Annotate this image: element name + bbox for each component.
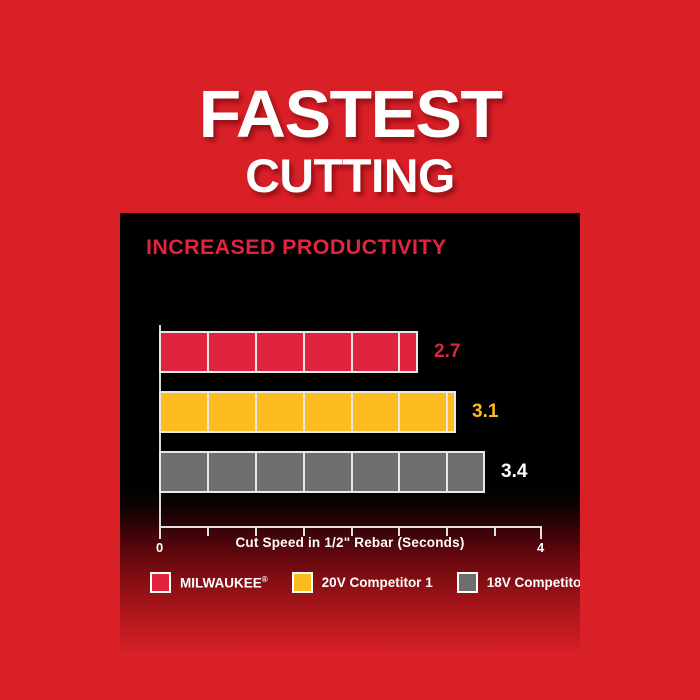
headline-primary: FASTEST: [0, 84, 700, 146]
bar-segment: [400, 393, 448, 431]
x-axis-line: 0 4: [159, 526, 542, 528]
bar-segment: [353, 453, 401, 491]
bar-segment: [448, 393, 454, 431]
legend-label: 20V Competitor 1: [322, 575, 433, 590]
bar-segment: [209, 333, 257, 371]
bar-segment: [161, 393, 209, 431]
bar-segment: [400, 333, 416, 371]
bar-segment: [400, 453, 448, 491]
bar-row: 3.4: [159, 451, 555, 493]
legend-item-1: MILWAUKEE®: [150, 572, 268, 593]
bar-value-label: 3.4: [501, 461, 527, 483]
bar-segment: [353, 333, 401, 371]
legend-label: 18V Competitor 2: [487, 575, 580, 590]
legend-swatch: [292, 572, 313, 593]
legend-swatch: [150, 572, 171, 593]
bar-segment: [161, 453, 209, 491]
bar-segment: [353, 393, 401, 431]
bar-value-label: 3.1: [472, 401, 498, 423]
bar-1: [159, 331, 418, 373]
bar-segment: [305, 453, 353, 491]
promo-graphic: FASTEST CUTTING INCREASED PRODUCTIVITY 2…: [0, 0, 700, 700]
headline-block: FASTEST CUTTING: [0, 84, 700, 200]
headline-secondary: CUTTING: [0, 152, 700, 200]
legend-item-3: 18V Competitor 2: [457, 572, 580, 593]
bar-segment: [257, 453, 305, 491]
legend-label: MILWAUKEE®: [180, 575, 268, 591]
bar-segment: [161, 333, 209, 371]
legend-swatch: [457, 572, 478, 593]
bar-segment: [305, 333, 353, 371]
legend-item-2: 20V Competitor 1: [292, 572, 433, 593]
chart-panel: INCREASED PRODUCTIVITY 2.73.13.4 0 4 Cut…: [120, 213, 580, 655]
bar-row: 3.1: [159, 391, 526, 433]
bar-segment: [209, 453, 257, 491]
bar-3: [159, 451, 485, 493]
bar-segment: [257, 393, 305, 431]
bar-segment: [448, 453, 483, 491]
x-axis-caption: Cut Speed in 1/2" Rebar (Seconds): [120, 535, 580, 550]
bar-2: [159, 391, 456, 433]
bar-row: 2.7: [159, 331, 488, 373]
bar-value-label: 2.7: [434, 341, 460, 363]
bar-segment: [209, 393, 257, 431]
chart-legend: MILWAUKEE®20V Competitor 118V Competitor…: [150, 572, 570, 593]
bar-segment: [305, 393, 353, 431]
bar-segment: [257, 333, 305, 371]
